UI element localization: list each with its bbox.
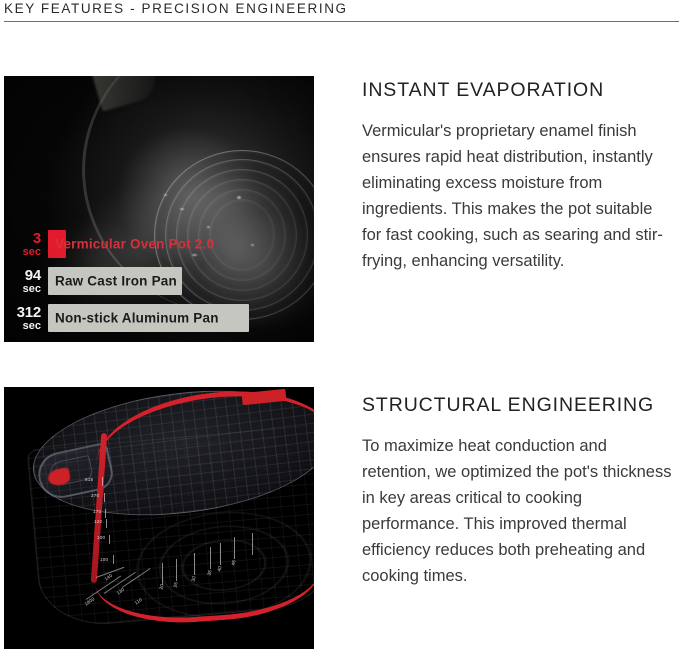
cad-callout: 20 [159,584,165,590]
feature-body: To maximize heat conduction and retentio… [362,433,672,589]
feature-body: Vermicular's proprietary enamel finish e… [362,118,672,274]
cad-callout: 100 [97,535,105,540]
cad-tick [220,543,221,565]
cad-tick [113,555,114,564]
cad-callout: 35 [207,570,213,576]
feature-title: INSTANT EVAPORATION [362,78,672,102]
cad-tick [176,559,177,581]
bar-value-label: 3 sec [10,231,48,258]
cad-tick [109,535,110,544]
bar-category-label: Vermicular Oven Pot 2.0 [55,237,214,252]
feature-row-structural-engineering: 815 270 170 120 100 100 140 130 110 1800… [0,387,679,649]
bar-category-label: Non-stick Aluminum Pan [55,311,219,326]
cad-callout: 815 [85,477,93,482]
cad-callout: 40 [217,566,223,572]
cad-background: 815 270 170 120 100 100 140 130 110 1800… [4,387,314,649]
copy-block-structural-engineering: STRUCTURAL ENGINEERING To maximize heat … [362,387,672,589]
copy-block-instant-evaporation: INSTANT EVAPORATION Vermicular's proprie… [362,76,672,274]
cad-callout: 25 [173,582,179,588]
cad-callout: 100 [100,557,108,562]
cad-tick [210,547,211,569]
bar-track: Raw Cast Iron Pan [48,265,306,297]
cad-tick [102,477,103,486]
feature-row-instant-evaporation: 3 sec Vermicular Oven Pot 2.0 94 sec [0,76,679,342]
cad-tick [106,519,107,528]
cad-callout: 170 [93,509,101,514]
bar-row-vermicular: 3 sec Vermicular Oven Pot 2.0 [10,228,306,260]
cad-callout: 120 [94,519,102,524]
water-speck [180,208,184,210]
bar-value-unit: sec [10,321,41,332]
bar-row-nonstick-aluminum: 312 sec Non-stick Aluminum Pan [10,302,306,334]
cad-tick [105,509,106,518]
page-title: KEY FEATURES - PRECISION ENGINEERING [4,0,676,18]
cad-callout: 30 [191,576,197,582]
bar-value-unit: sec [10,284,41,295]
cad-callout: 270 [91,493,99,498]
bar-category-label: Raw Cast Iron Pan [55,274,177,289]
bar-value-number: 94 [10,268,41,283]
bar-track: Non-stick Aluminum Pan [48,302,306,334]
bar-value-number: 312 [10,305,41,320]
feature-title: STRUCTURAL ENGINEERING [362,393,672,417]
media-pot-wireframe-diagram: 815 270 170 120 100 100 140 130 110 1800… [4,387,314,649]
page-root: KEY FEATURES - PRECISION ENGINEERING [0,0,679,653]
bar-value-label: 94 sec [10,268,48,295]
cad-callout: 45 [231,560,237,566]
media-smoking-pot-photo: 3 sec Vermicular Oven Pot 2.0 94 sec [4,76,314,342]
evaporation-bar-chart: 3 sec Vermicular Oven Pot 2.0 94 sec [10,228,306,334]
header-divider [4,21,679,22]
bar-row-cast-iron: 94 sec Raw Cast Iron Pan [10,265,306,297]
bar-value-unit: sec [10,247,41,258]
cad-tick [104,493,105,502]
cad-tick [194,553,195,575]
bar-value-number: 3 [10,231,41,246]
bar-value-label: 312 sec [10,305,48,332]
bar-track: Vermicular Oven Pot 2.0 [48,228,306,260]
cad-tick [162,563,163,585]
water-speck [237,196,241,199]
water-speck [164,194,167,196]
cad-tick [252,533,253,555]
section-header: KEY FEATURES - PRECISION ENGINEERING [4,0,676,23]
cad-tick [234,537,235,559]
